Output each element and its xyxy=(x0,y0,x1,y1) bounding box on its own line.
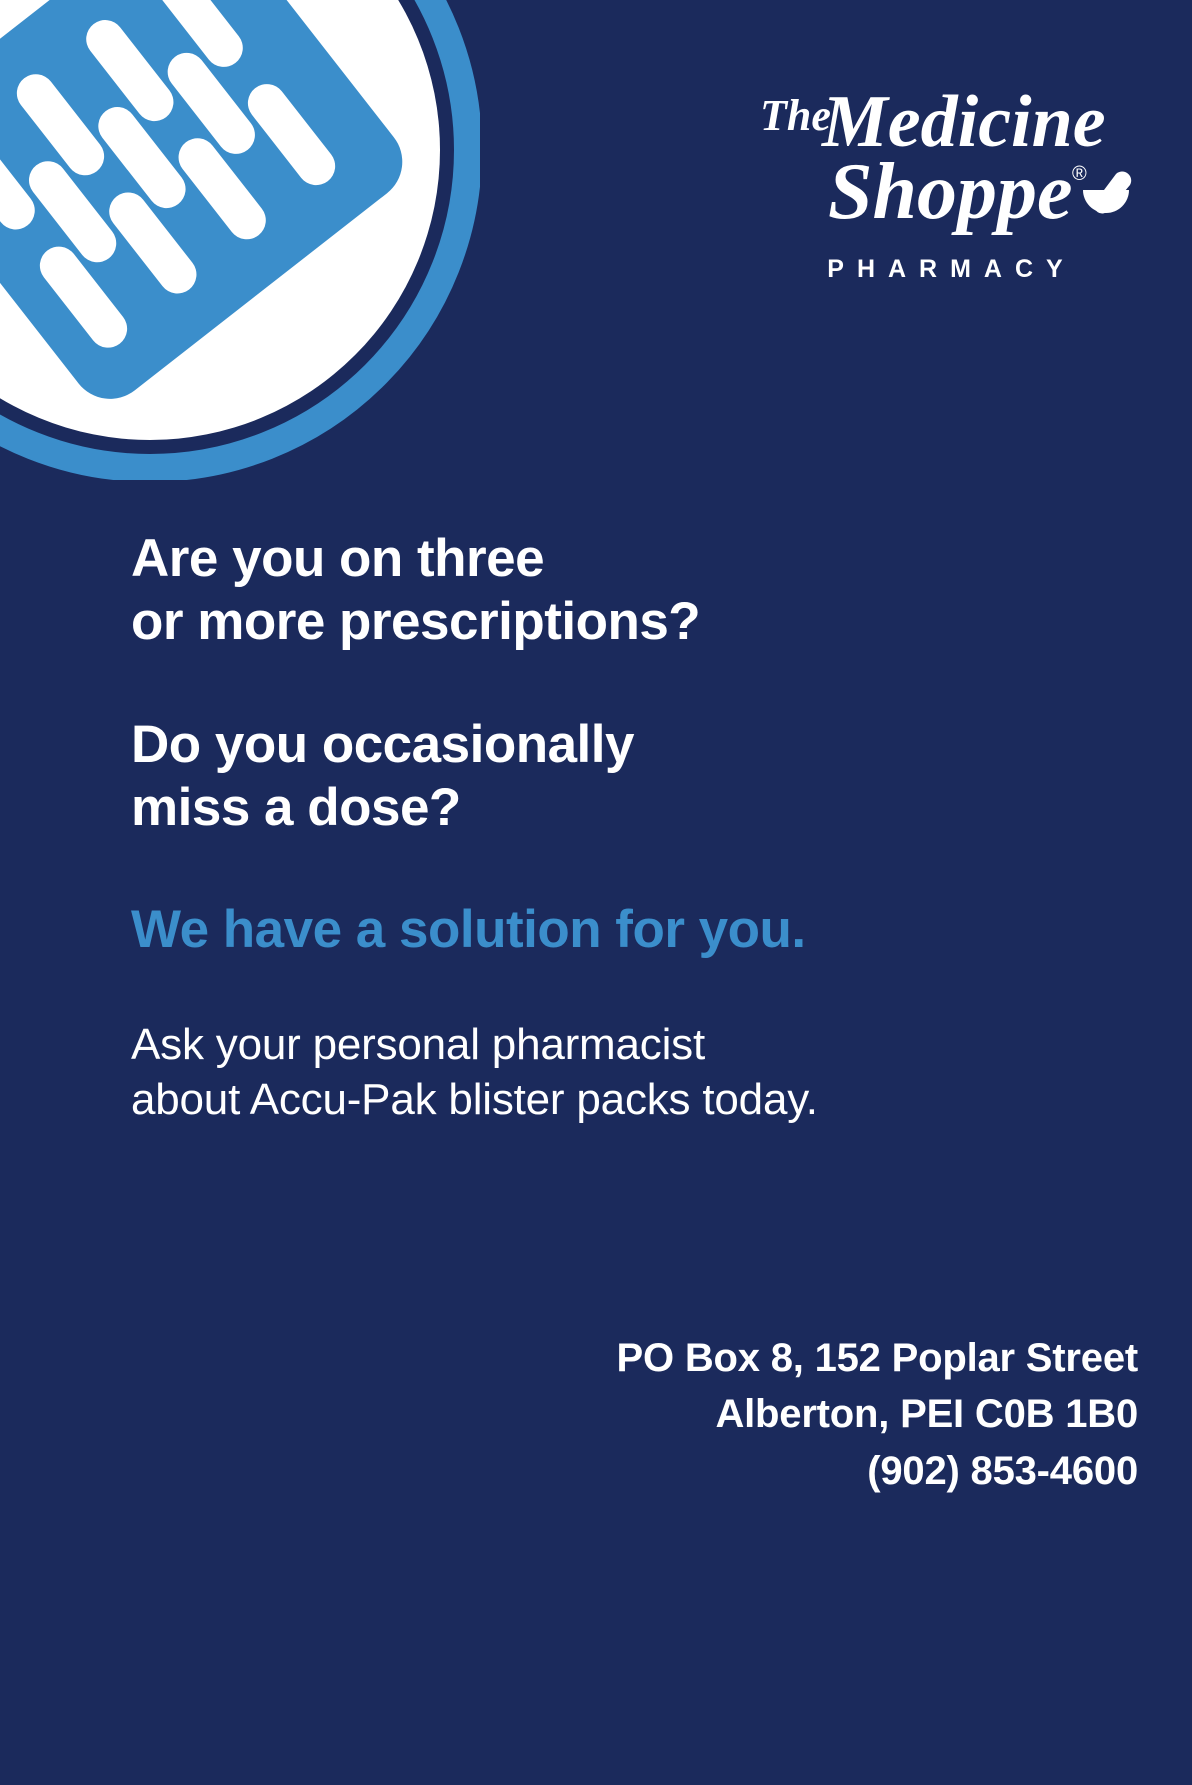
address-city-postal: Alberton, PEI C0B 1B0 xyxy=(617,1386,1138,1443)
body-copy-line2: about Accu-Pak blister packs today. xyxy=(131,1075,818,1124)
copy-block: Are you on three or more prescriptions? … xyxy=(131,528,1091,1127)
headline-missed-dose: Do you occasionally miss a dose? xyxy=(131,714,1091,839)
poster-canvas: The Medicine Shoppe ® PHARMACY Are you o… xyxy=(0,0,1192,1785)
headline-prescriptions-line1: Are you on three xyxy=(131,529,544,588)
medicine-shoppe-wordmark: The Medicine Shoppe ® xyxy=(750,78,1140,253)
headline-prescriptions-line2: or more prescriptions? xyxy=(131,592,700,651)
logo-pharmacy-subtitle: PHARMACY xyxy=(750,257,1140,282)
blister-pack-badge xyxy=(0,0,480,480)
mortar-and-pestle-icon xyxy=(1083,172,1131,214)
logo-shoppe-text: Shoppe xyxy=(828,148,1073,236)
brand-logo: The Medicine Shoppe ® PHARMACY xyxy=(750,78,1140,282)
address-street: PO Box 8, 152 Poplar Street xyxy=(617,1330,1138,1387)
headline-prescriptions: Are you on three or more prescriptions? xyxy=(131,528,1091,653)
address-phone[interactable]: (902) 853-4600 xyxy=(617,1443,1138,1500)
solution-tagline: We have a solution for you. xyxy=(131,899,1091,962)
headline-missed-dose-line2: miss a dose? xyxy=(131,778,461,837)
logo-the-text: The xyxy=(760,91,831,140)
body-copy: Ask your personal pharmacist about Accu-… xyxy=(131,1017,1091,1127)
headline-missed-dose-line1: Do you occasionally xyxy=(131,715,634,774)
contact-address-block: PO Box 8, 152 Poplar Street Alberton, PE… xyxy=(617,1330,1138,1500)
body-copy-line1: Ask your personal pharmacist xyxy=(131,1020,705,1069)
logo-registered-mark: ® xyxy=(1072,163,1087,185)
blister-pack-icon xyxy=(0,0,480,480)
